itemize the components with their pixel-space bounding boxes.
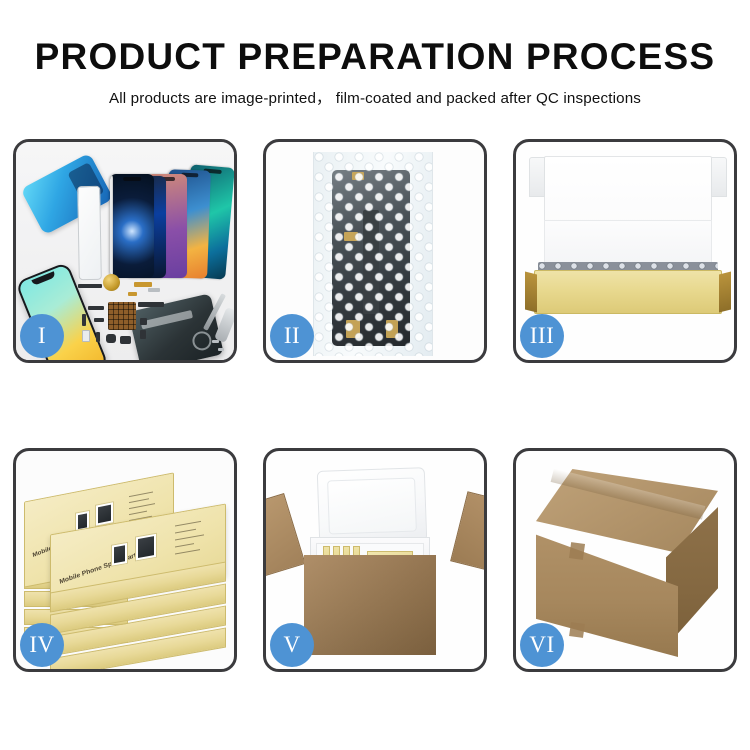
box-window-icon (135, 533, 157, 562)
step-badge-2: II (270, 314, 314, 358)
flex-cable-icon (82, 314, 86, 326)
lid-flap-right-icon (711, 157, 727, 197)
chip-icon (140, 330, 146, 339)
camera-ring-icon (103, 274, 120, 291)
lid-flap-left-icon (529, 157, 545, 197)
carton-flap-left-icon (266, 493, 306, 579)
carton-body-icon (304, 555, 436, 655)
screw-icon (218, 348, 224, 351)
gold-connector-icon (128, 292, 137, 296)
speaker-icon (106, 334, 116, 343)
step-badge-4: IV (20, 623, 64, 667)
step-panel-bubble-wrap-bag[interactable]: II (263, 139, 487, 363)
step-badge-3: III (520, 314, 564, 358)
process-step-grid: I II (13, 139, 737, 672)
step-badge-5: V (270, 623, 314, 667)
box-window-icon (111, 542, 128, 567)
screw-tray-icon (108, 302, 136, 330)
step-badge-1: I (20, 314, 64, 358)
step-panel-boxes-stacked[interactable]: Mobile Phone Spare Parts Mobile Phone Sp… (13, 448, 237, 672)
kraft-box-tray-icon (534, 270, 722, 314)
page-title: PRODUCT PREPARATION PROCESS (0, 38, 750, 77)
long-flex-icon (138, 302, 164, 307)
metal-shield-icon (148, 288, 160, 292)
bubble-wrap-bag-icon (313, 152, 433, 356)
vibrator-icon (120, 336, 131, 344)
gold-flex-icon (134, 282, 152, 287)
sim-tray-icon (82, 330, 90, 342)
carton-flap-right-icon (450, 491, 484, 574)
small-bracket-icon (96, 332, 100, 342)
antenna-flex-icon (78, 284, 102, 288)
sealed-carton-icon (536, 469, 718, 657)
step-panel-sealed-carton[interactable]: VI (513, 448, 737, 672)
bubble-texture (314, 152, 432, 356)
flex-cable-icon (88, 306, 104, 310)
chip-icon (140, 318, 147, 325)
tape-patch-icon (569, 622, 585, 638)
step-panel-inner-box-packing[interactable]: III (513, 139, 737, 363)
foam-lid-icon (317, 467, 428, 545)
header: PRODUCT PREPARATION PROCESS All products… (0, 0, 750, 108)
step-panel-spare-parts-overview[interactable]: I (13, 139, 237, 363)
step-panel-carton-with-foam[interactable]: V (263, 448, 487, 672)
flex-cable-icon (94, 318, 104, 322)
page-subtitle: All products are image-printed， film-coa… (0, 86, 750, 108)
step-badge-6: VI (520, 623, 564, 667)
tape-patch-icon (569, 542, 585, 560)
